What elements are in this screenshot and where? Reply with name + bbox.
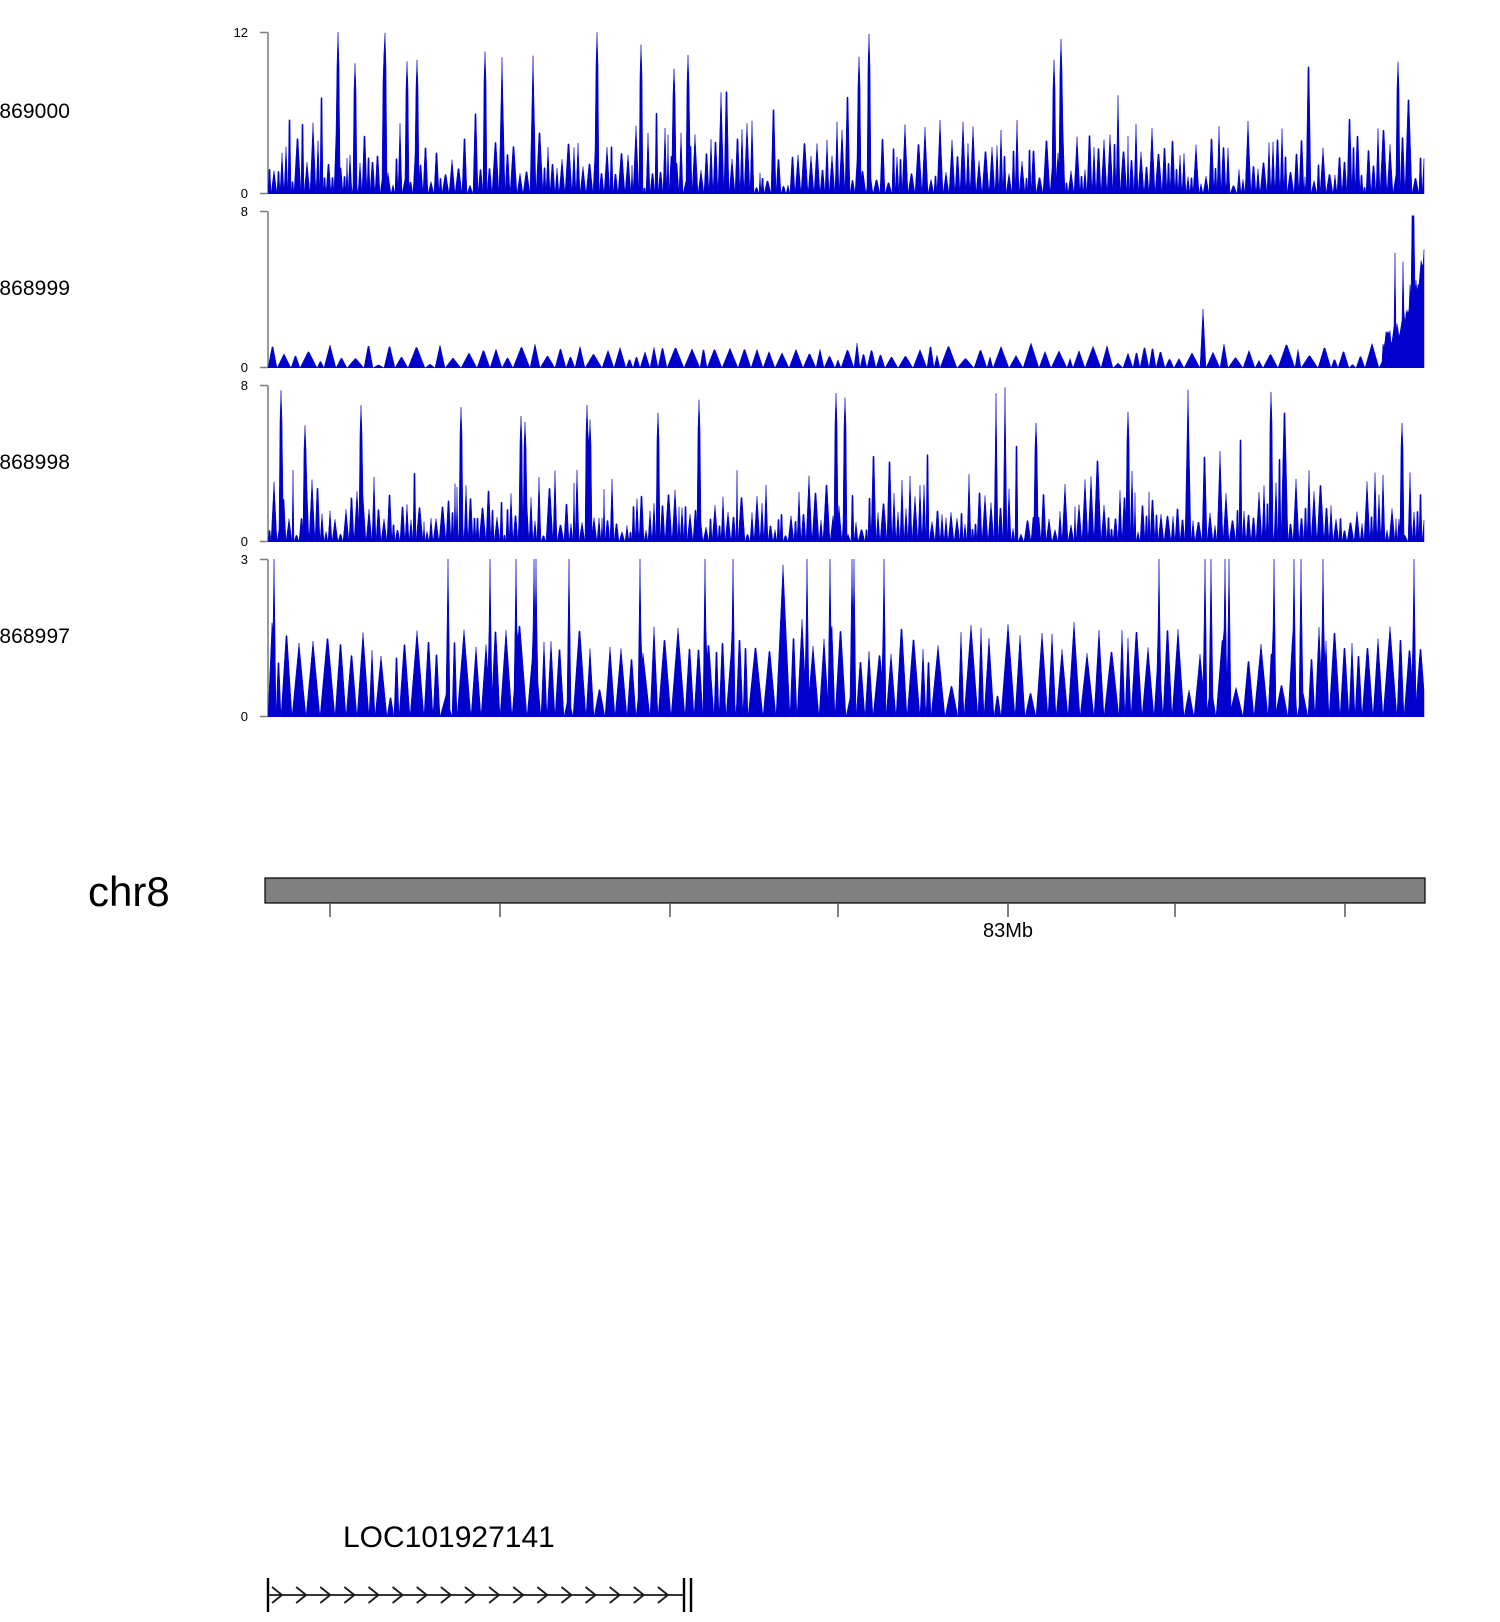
ideogram-bar[interactable]	[250, 872, 1440, 920]
track-sample-label: GSM869000	[0, 100, 70, 124]
y-axis-min-label: 0	[241, 187, 248, 200]
genome-browser-figure: GSM869000120GSM86899980GSM86899880GSM868…	[0, 0, 1500, 980]
y-axis-min-label: 0	[241, 361, 248, 374]
coverage-plot-area[interactable]	[268, 211, 1425, 368]
y-axis-max-label: 12	[234, 26, 248, 39]
coverage-track-gsm868998: GSM86899880	[0, 385, 1500, 542]
coverage-plot-area[interactable]	[268, 385, 1425, 542]
coverage-area-path	[268, 32, 1425, 194]
coverage-plot-area[interactable]	[268, 559, 1425, 717]
track-sample-label: GSM868998	[0, 451, 70, 475]
coverage-area-path	[268, 559, 1425, 717]
gene-name-label: LOC101927141	[343, 1521, 555, 1555]
coverage-track-gsm868999: GSM86899980	[0, 211, 1500, 368]
genomic-position-label: 83Mb	[983, 920, 1033, 943]
y-axis-max-label: 3	[241, 553, 248, 566]
y-axis-max-label: 8	[241, 205, 248, 218]
coverage-plot-area[interactable]	[268, 32, 1425, 194]
chromosome-label: chr8	[88, 868, 170, 916]
y-axis-max-label: 8	[241, 379, 248, 392]
chromosome-ideogram[interactable]	[250, 872, 1440, 920]
coverage-area-path	[268, 385, 1425, 542]
gene-model-glyph[interactable]	[260, 1573, 710, 1617]
transcript-glyph[interactable]	[260, 1573, 710, 1617]
gene-annotation-track: LOC101927141	[0, 755, 1500, 865]
coverage-area-path	[268, 211, 1425, 368]
track-sample-label: GSM868999	[0, 277, 70, 301]
y-axis-min-label: 0	[241, 710, 248, 723]
coverage-track-gsm869000: GSM869000120	[0, 32, 1500, 194]
y-axis-min-label: 0	[241, 535, 248, 548]
coverage-track-gsm868997: GSM86899730	[0, 559, 1500, 717]
track-sample-label: GSM868997	[0, 625, 70, 649]
